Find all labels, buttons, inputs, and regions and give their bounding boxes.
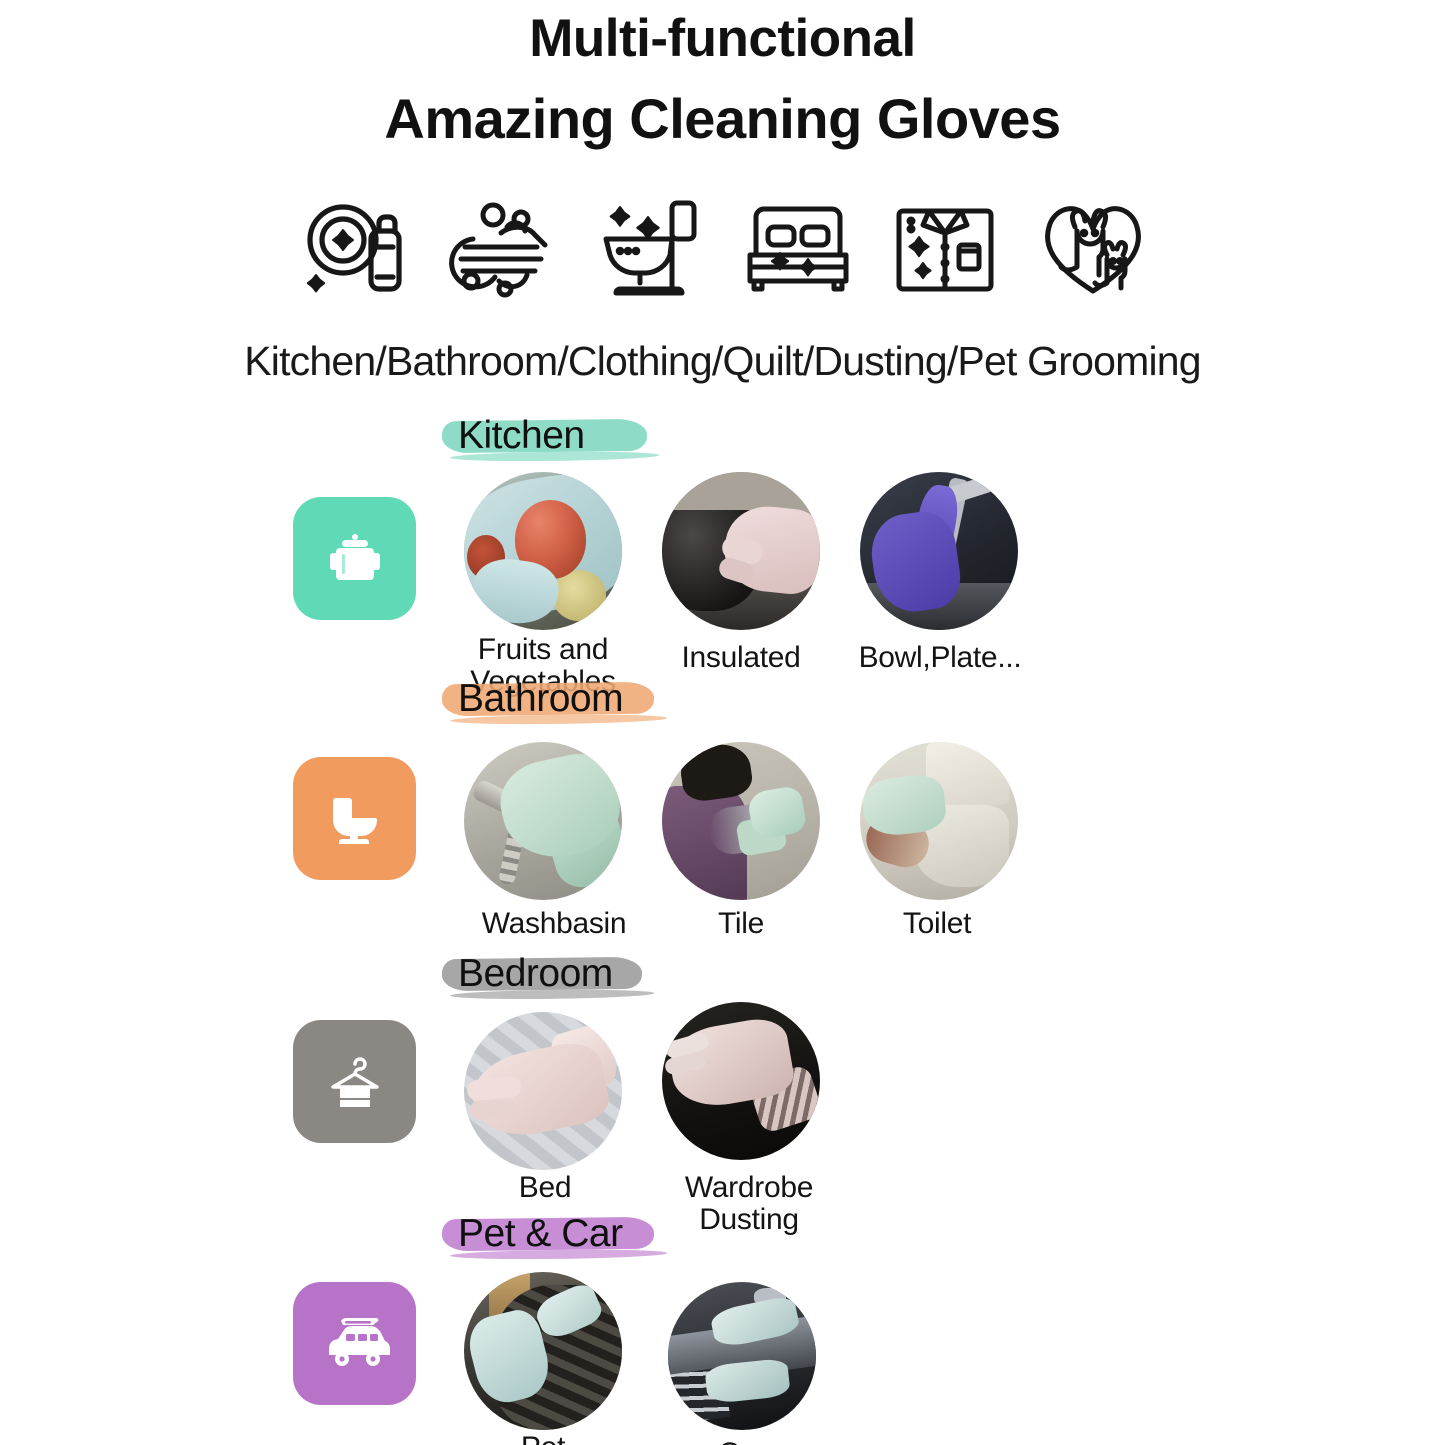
cooking-pot-icon (322, 526, 388, 592)
caption-bed: Bed (466, 1172, 624, 1204)
headline-primary: Multi-functional (0, 8, 1445, 69)
photo-tile (662, 742, 820, 900)
photo-car (668, 1282, 816, 1430)
toilet-icon (322, 786, 388, 852)
pet-heart-icon (1034, 191, 1152, 303)
section-title-bathroom: Bathroom (452, 677, 629, 720)
category-tile-bedroom[interactable] (293, 1020, 416, 1143)
product-infographic: Multi-functional Amazing Cleaning Gloves (0, 0, 1445, 1445)
section-title-pet-car: Pet & Car (452, 1212, 629, 1255)
section-title-bedroom: Bedroom (452, 952, 619, 995)
category-tile-pet-car[interactable] (293, 1282, 416, 1405)
photo-insulated (662, 472, 820, 630)
caption-toilet: Toilet (858, 908, 1016, 940)
shirt-sparkle-icon (886, 191, 1004, 303)
hands-washing-icon (444, 191, 562, 303)
feature-icon-strip (296, 188, 1152, 306)
caption-bowl-plate: Bowl,Plate... (856, 642, 1024, 674)
toilet-sparkle-icon (591, 191, 709, 303)
bed-sparkle-icon (739, 191, 857, 303)
section-header-bathroom: Bathroom (452, 676, 629, 722)
caption-insulated: Insulated (662, 642, 820, 674)
category-tile-bathroom[interactable] (293, 757, 416, 880)
photo-wardrobe-dusting (662, 1002, 820, 1160)
photo-pet (464, 1272, 622, 1430)
suv-car-icon (319, 1311, 391, 1377)
caption-car: Car (668, 1438, 816, 1445)
photo-bed (464, 1012, 622, 1170)
category-tile-kitchen[interactable] (293, 497, 416, 620)
section-header-pet-car: Pet & Car (452, 1211, 629, 1257)
photo-toilet (860, 742, 1018, 900)
section-header-bedroom: Bedroom (452, 951, 619, 997)
headline-secondary: Amazing Cleaning Gloves (0, 86, 1445, 151)
caption-pet: Pet (464, 1432, 622, 1445)
photo-fruits-vegetables (464, 472, 622, 630)
photo-bowl-plate (860, 472, 1018, 630)
photo-washbasin (464, 742, 622, 900)
section-header-kitchen: Kitchen (452, 413, 591, 459)
dish-and-detergent-icon (296, 191, 414, 303)
caption-wardrobe-dusting: Wardrobe Dusting (636, 1172, 862, 1237)
section-title-kitchen: Kitchen (452, 414, 591, 457)
caption-washbasin: Washbasin (464, 908, 644, 940)
category-subtitle: Kitchen/Bathroom/Clothing/Quilt/Dusting/… (0, 338, 1445, 385)
clothes-hanger-icon (320, 1047, 390, 1117)
caption-tile: Tile (662, 908, 820, 940)
